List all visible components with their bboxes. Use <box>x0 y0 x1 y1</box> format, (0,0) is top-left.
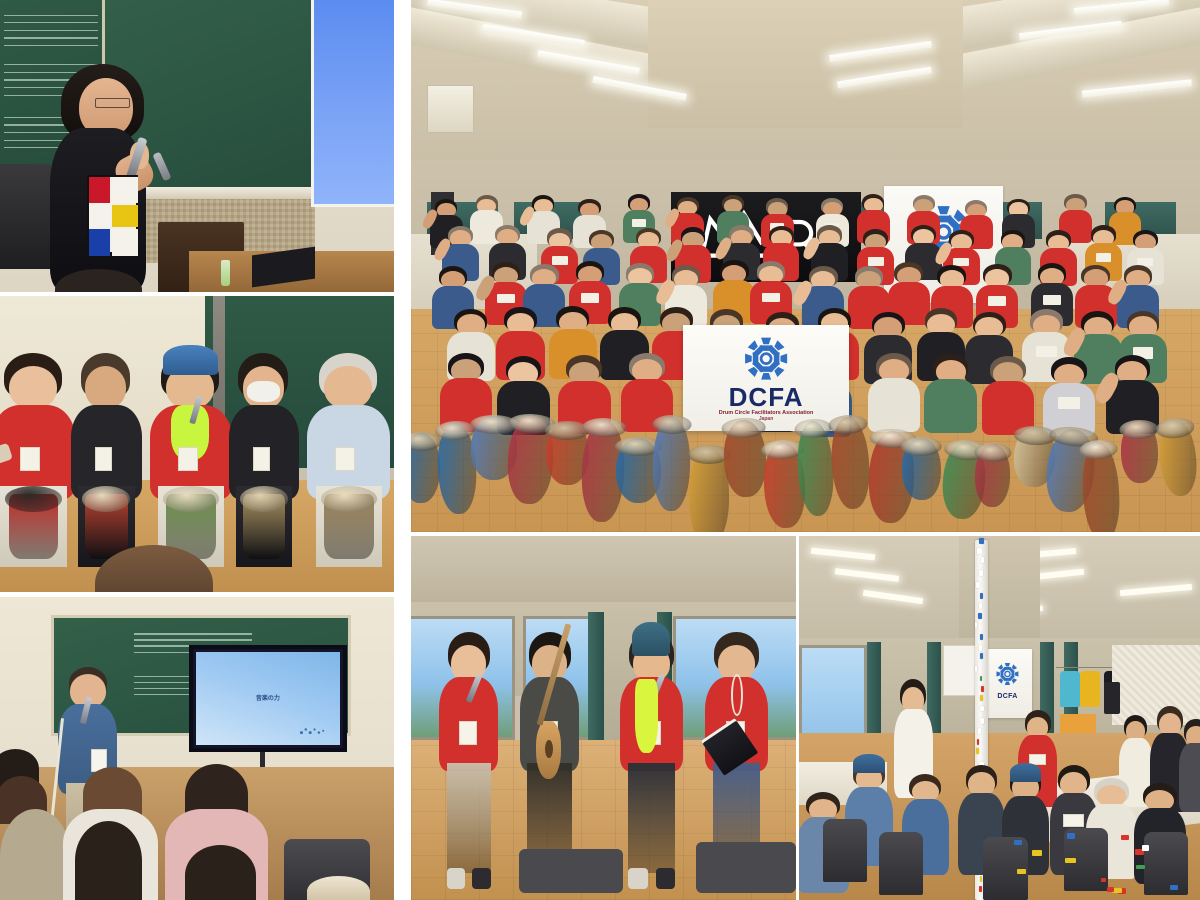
hand-drum <box>653 417 691 511</box>
stacking-stool <box>519 849 623 893</box>
tower-brick <box>979 538 984 544</box>
hand-drum <box>975 443 1011 507</box>
name-tag <box>20 447 40 471</box>
member-name-tag <box>762 293 780 303</box>
table-block <box>1017 869 1026 874</box>
table-block <box>1065 858 1076 862</box>
participant-head <box>85 366 126 409</box>
drum-head <box>1119 420 1158 440</box>
performer <box>619 632 684 894</box>
participant-head <box>9 366 57 409</box>
drum-head <box>5 486 61 512</box>
member-name-tag <box>581 293 599 303</box>
group-photo-scene: DCFA <box>411 0 1200 532</box>
performer-legs <box>447 763 491 873</box>
melodica-tube <box>731 674 743 716</box>
performer-shoe <box>656 868 676 889</box>
drum-circle-participant <box>307 353 390 567</box>
performer-shoe <box>447 868 465 889</box>
member-name-tag <box>497 294 515 304</box>
performer-shoe <box>472 868 490 889</box>
photo-performers[interactable] <box>411 536 796 900</box>
drum-head <box>1155 417 1195 440</box>
stacking-chair <box>879 832 923 895</box>
drum-head <box>794 418 832 439</box>
presentation-scene: 音楽の力 <box>0 597 394 900</box>
drum-circle-participant <box>0 353 75 567</box>
name-tag <box>178 447 198 471</box>
room-ceiling <box>411 536 796 609</box>
drum-row <box>411 404 1200 532</box>
blue-hat <box>632 622 670 656</box>
projector-screen <box>311 0 394 207</box>
member-name-tag <box>868 257 884 266</box>
blue-hat <box>1010 763 1042 782</box>
drum-head <box>901 437 943 457</box>
photo-presentation[interactable]: 音楽の力 <box>0 597 394 900</box>
tower-brick <box>975 622 977 628</box>
drum-head <box>240 486 288 512</box>
table-block <box>1067 833 1075 839</box>
audience-head <box>185 845 256 900</box>
stacking-chair <box>983 837 1027 900</box>
table-block <box>1136 865 1145 869</box>
drum-head <box>582 417 627 438</box>
member-name-tag <box>632 219 646 227</box>
hand-drum <box>722 419 767 498</box>
table-block <box>1170 885 1178 891</box>
drum-head <box>163 486 219 512</box>
drum-circle-participant <box>71 353 142 567</box>
drum-head <box>653 415 693 435</box>
table-block <box>1101 878 1106 882</box>
table-block <box>1121 835 1129 840</box>
hand-drum <box>902 438 942 501</box>
drum-head <box>82 486 130 512</box>
drum-circle-participants <box>0 343 394 592</box>
stacking-stool <box>696 842 796 893</box>
tower-brick <box>979 645 982 651</box>
tower-workshop-scene: DCFA <box>799 536 1200 900</box>
table-block <box>1014 840 1023 846</box>
tower-brick <box>976 582 979 588</box>
av-equipment-rack <box>0 164 51 269</box>
lecturer-glasses <box>95 98 130 107</box>
ceiling-center-panel <box>648 0 964 128</box>
hand-drum <box>1156 419 1199 498</box>
ceiling-speaker <box>427 85 474 133</box>
lecturer-scene <box>0 0 394 292</box>
audience-head <box>75 821 142 900</box>
flat-screen-display[interactable]: 音楽の力 <box>189 645 347 751</box>
tower-brick <box>977 548 982 554</box>
drum-circle-scene <box>0 296 394 592</box>
slide-screen: 音楽の力 <box>196 652 340 744</box>
name-tag <box>1063 814 1084 827</box>
table-block <box>1107 887 1114 892</box>
tower-brick <box>980 593 983 599</box>
name-tag <box>253 447 270 471</box>
hand-drum <box>411 433 440 503</box>
table-block <box>1142 845 1150 851</box>
member-name-tag <box>1096 253 1112 262</box>
member-name-tag <box>1036 346 1057 357</box>
stacking-chair <box>1144 832 1188 895</box>
hand-drum <box>1120 421 1158 484</box>
performer-shoe <box>628 868 648 889</box>
performer <box>438 632 500 894</box>
drum-head <box>721 417 766 438</box>
name-tag <box>459 721 477 745</box>
tower-brick <box>980 653 983 659</box>
performers-scene <box>411 536 796 900</box>
guitar-soundhole <box>545 740 553 758</box>
table-block <box>1032 850 1041 856</box>
face-mask <box>247 381 280 402</box>
hand-drum <box>829 416 872 510</box>
dcfa-flag-logo <box>728 331 804 386</box>
tower-brick <box>979 570 983 576</box>
photo-tower-workshop[interactable]: DCFA <box>799 536 1200 900</box>
tower-brick <box>981 557 984 563</box>
water-bottle <box>221 260 230 286</box>
name-tag <box>95 447 112 471</box>
tower-brick <box>979 603 982 609</box>
tower-brick <box>975 666 977 672</box>
mondrian-notebook <box>87 175 138 254</box>
tower-brick <box>978 613 982 619</box>
slide-logo-icon <box>294 724 331 739</box>
yellow-towel <box>635 679 659 752</box>
audience-body <box>0 809 71 900</box>
drum-circle-participant <box>229 353 300 567</box>
hand-drum <box>1080 441 1122 532</box>
drum-head <box>321 486 377 512</box>
photo-drum-circle[interactable] <box>0 296 394 592</box>
tower-brick <box>980 634 983 640</box>
facilitator-hat <box>163 345 218 375</box>
member-name-tag <box>988 296 1006 306</box>
stacking-chair <box>823 819 867 882</box>
name-tag <box>335 447 355 471</box>
performer-legs <box>628 763 675 873</box>
drum-head <box>828 414 868 436</box>
drum-circle-participant <box>150 353 233 567</box>
slide-title-text: 音楽の力 <box>196 693 340 702</box>
blue-hat <box>853 754 885 773</box>
member-name-tag <box>1043 295 1061 305</box>
drum-head <box>974 442 1011 462</box>
photo-lecturer[interactable] <box>0 0 394 292</box>
participant-head <box>324 366 372 409</box>
photo-collage: DCFA <box>0 0 1200 900</box>
workshop-participants <box>799 674 1200 900</box>
photo-group[interactable]: DCFA <box>411 0 1200 532</box>
